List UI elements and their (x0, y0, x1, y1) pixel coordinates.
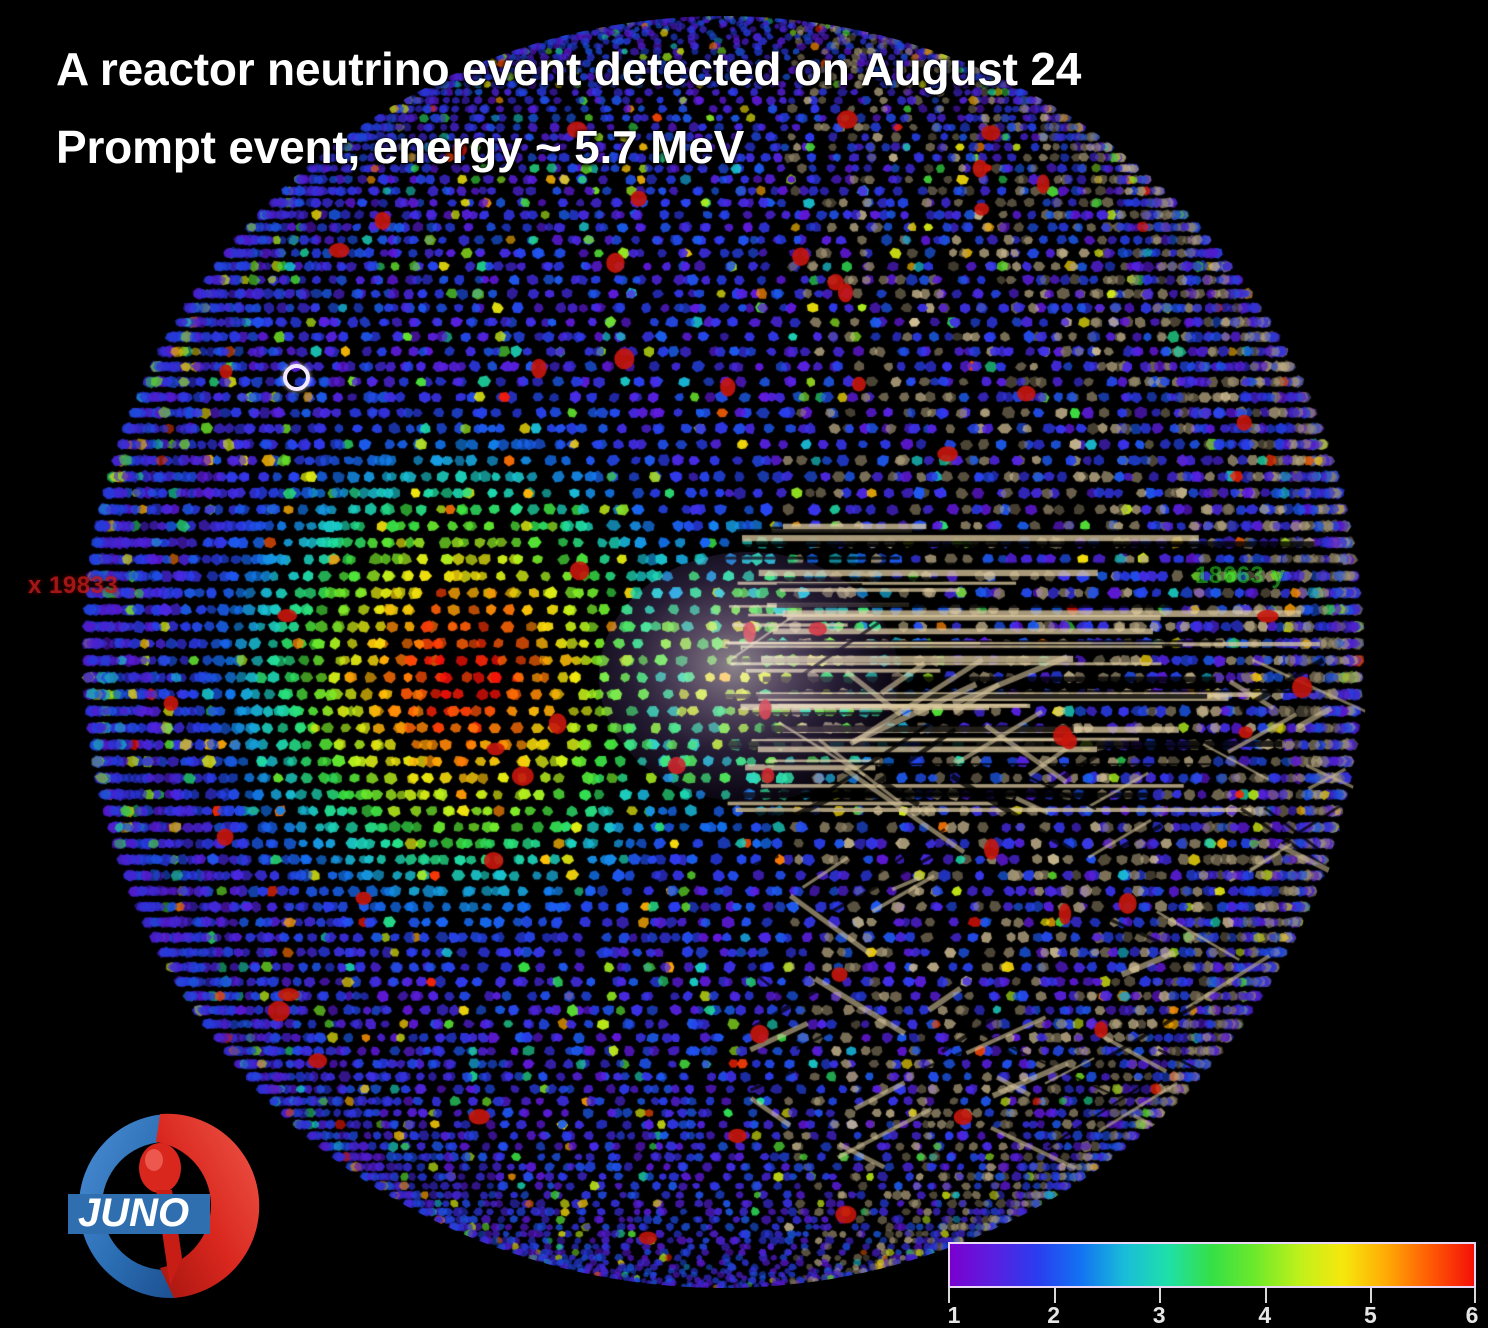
colorbar-tick (1265, 1288, 1267, 1303)
page-subtitle: Prompt event, energy ~ 5.7 MeV (56, 124, 1081, 170)
colorbar-tick (1474, 1288, 1476, 1303)
page-title: A reactor neutrino event detected on Aug… (56, 46, 1081, 92)
logo-droplet-highlight (145, 1149, 163, 1171)
event-display-canvas: x 19833 18663 y A reactor neutrino event… (0, 0, 1488, 1328)
detector-sphere (78, 16, 1368, 1288)
title-block: A reactor neutrino event detected on Aug… (56, 46, 1081, 170)
pmt-hit-map (78, 16, 1368, 1288)
colorbar-gradient (948, 1242, 1476, 1288)
colorbar-tick-label: 4 (1258, 1302, 1271, 1328)
colorbar-tick-label: 6 (1466, 1302, 1479, 1328)
colorbar-tick (1159, 1288, 1161, 1303)
juno-logo: JUNO (56, 1098, 266, 1313)
colorbar-axis: 123456 (948, 1288, 1476, 1328)
colorbar-tick (948, 1288, 950, 1303)
logo-text: JUNO (78, 1191, 189, 1235)
colorbar-tick-label: 2 (1047, 1302, 1060, 1328)
colorbar-tick-label: 3 (1153, 1302, 1166, 1328)
colorbar-tick (1054, 1288, 1056, 1303)
colorbar-tick (1370, 1288, 1372, 1303)
colorbar-tick-label: 5 (1364, 1302, 1377, 1328)
colorbar-tick-label: 1 (948, 1302, 961, 1328)
